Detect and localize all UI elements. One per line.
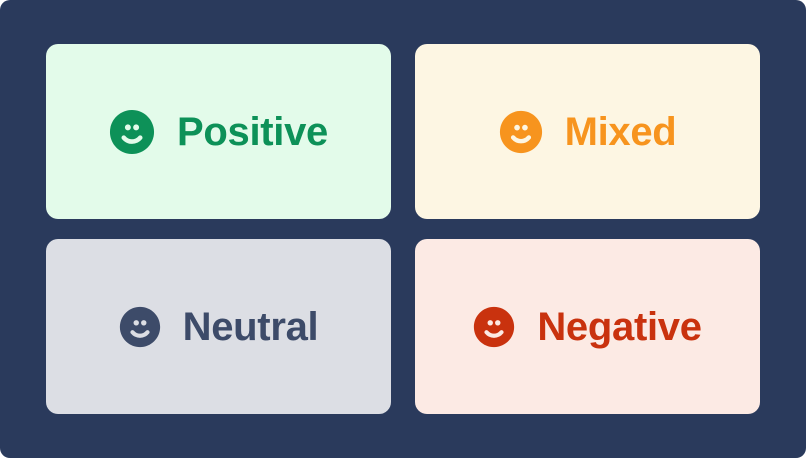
sentiment-panel: Positive Mixed Neutral Negative — [0, 0, 806, 458]
smiley-face-icon — [473, 306, 515, 348]
sentiment-card-label: Mixed — [565, 112, 677, 152]
sentiment-card-negative[interactable]: Negative — [415, 239, 760, 414]
sentiment-card-label: Negative — [537, 307, 701, 347]
sentiment-card-mixed[interactable]: Mixed — [415, 44, 760, 219]
sentiment-card-neutral[interactable]: Neutral — [46, 239, 391, 414]
smiley-face-icon — [109, 109, 155, 155]
sentiment-card-label: Positive — [177, 112, 328, 152]
sentiment-card-label: Neutral — [183, 307, 319, 347]
sentiment-card-positive[interactable]: Positive — [46, 44, 391, 219]
smiley-face-icon — [119, 306, 161, 348]
smiley-face-icon — [499, 110, 543, 154]
